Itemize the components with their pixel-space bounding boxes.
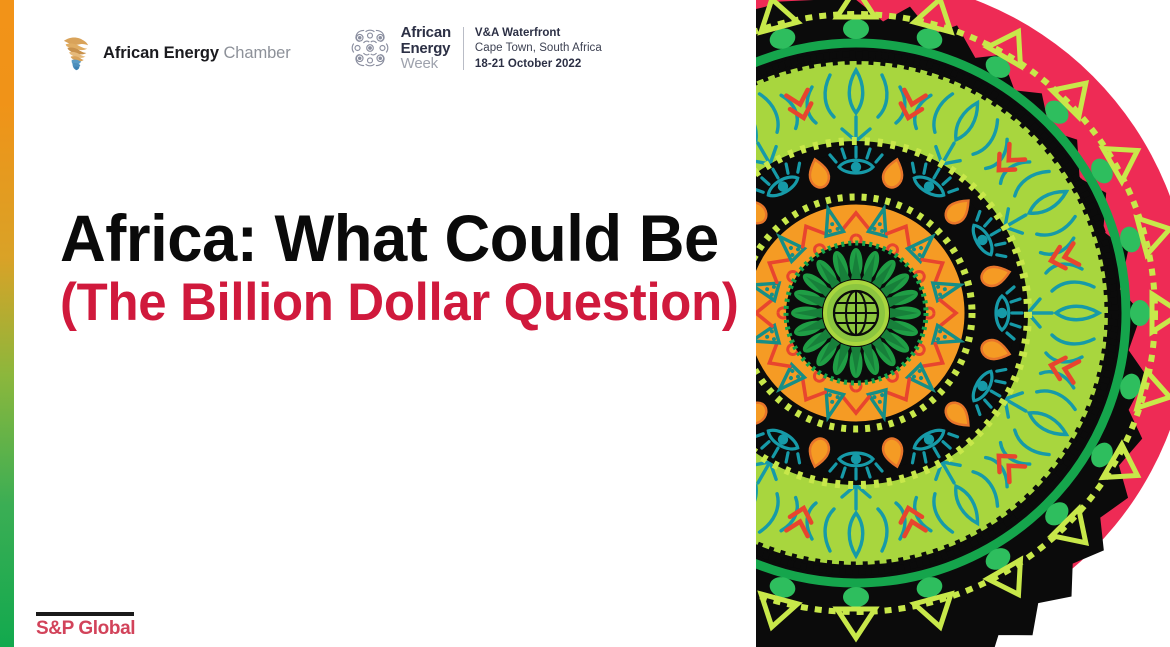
event-dates: 18-21 October 2022 [475, 57, 602, 72]
aew-line-african: African [401, 25, 451, 40]
aec-light-text: Chamber [223, 44, 290, 62]
event-location: Cape Town, South Africa [475, 41, 602, 56]
aec-wordmark: African Energy Chamber [103, 45, 291, 62]
african-energy-week-logo: African Energy Week V&A Waterfront Cape … [348, 25, 602, 72]
event-venue: V&A Waterfront [475, 26, 602, 41]
slide-header: African Energy Chamber [58, 22, 602, 72]
african-mandala-graphic [756, 0, 1170, 647]
slide-title: Africa: What Could Be [60, 205, 739, 271]
header-divider [463, 27, 464, 70]
sp-global-label: S&P Global [36, 619, 135, 639]
sp-global-bar [36, 612, 134, 616]
event-details: V&A Waterfront Cape Town, South Africa 1… [475, 25, 602, 72]
aew-wordmark: African Energy Week [401, 25, 451, 71]
aew-ornament-icon [348, 26, 392, 70]
aec-bold-text: African Energy [103, 44, 219, 62]
aew-line-week: Week [401, 56, 451, 71]
left-gradient-accent-bar [0, 0, 14, 647]
aew-line-energy: Energy [401, 41, 451, 56]
mandala-svg [756, 0, 1170, 647]
title-block: Africa: What Could Be (The Billion Dolla… [60, 205, 767, 336]
african-energy-chamber-logo: African Energy Chamber [58, 34, 291, 72]
slide-subtitle: (The Billion Dollar Question) [60, 271, 739, 336]
africa-map-icon [58, 34, 94, 72]
presentation-slide: African Energy Chamber [0, 0, 1170, 647]
sp-global-logo: S&P Global [36, 612, 135, 639]
